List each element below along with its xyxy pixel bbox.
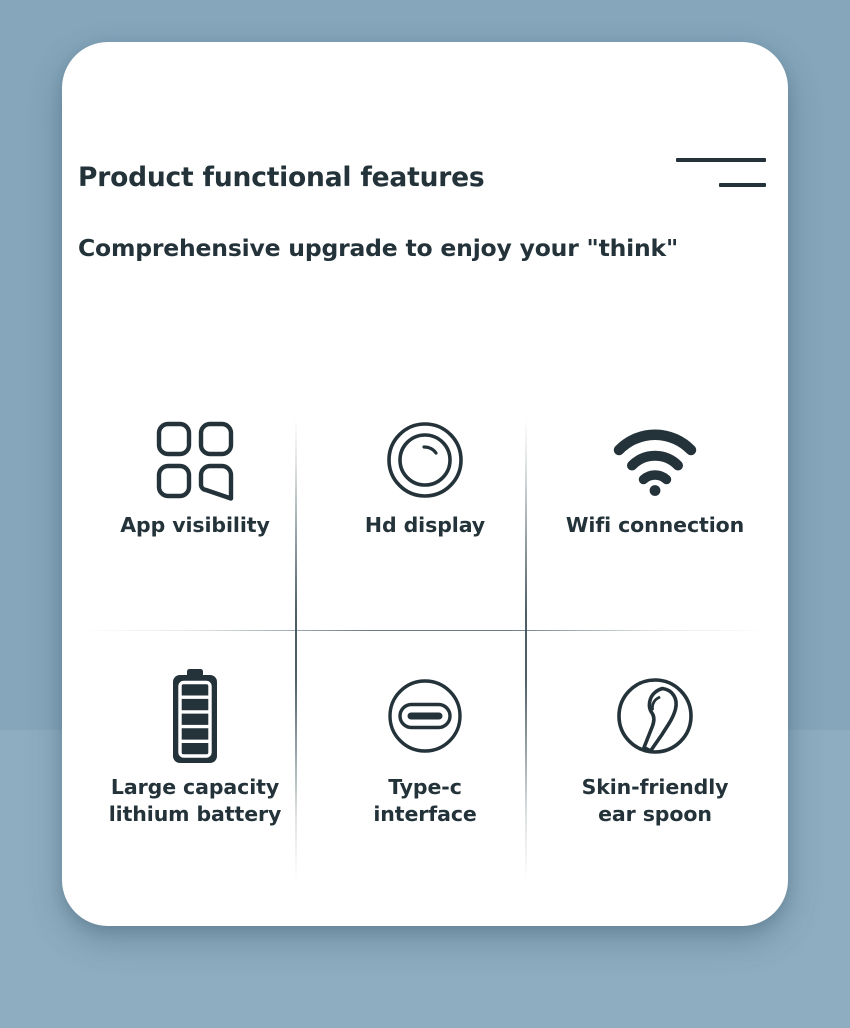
ear-spoon-icon	[611, 672, 699, 760]
header-rule-bottom-icon	[719, 183, 766, 187]
header-rule-decoration	[674, 158, 766, 200]
feature-label: Type-c interface	[373, 774, 476, 829]
battery-icon	[167, 672, 223, 760]
header-rule-top-icon	[676, 158, 766, 162]
app-grid-icon	[153, 416, 237, 504]
feature-label: Large capacity lithium battery	[109, 774, 282, 829]
card-header: Product functional features Comprehensiv…	[78, 162, 772, 262]
hd-display-icon	[383, 416, 467, 504]
title-row: Product functional features	[78, 162, 772, 208]
grid-divider-vertical-2	[525, 418, 527, 882]
feature-item-ear-spoon: Skin-friendly ear spoon	[540, 630, 770, 870]
usb-type-c-icon	[383, 672, 467, 760]
grid-divider-vertical-1	[295, 418, 297, 882]
wifi-icon	[610, 416, 700, 504]
feature-item-app-visibility: App visibility	[80, 390, 310, 630]
feature-item-type-c: Type-c interface	[310, 630, 540, 870]
feature-label: Wifi connection	[566, 512, 744, 539]
feature-label: Skin-friendly ear spoon	[582, 774, 729, 829]
feature-item-hd-display: Hd display	[310, 390, 540, 630]
feature-item-wifi-connection: Wifi connection	[540, 390, 770, 630]
page-subtitle: Comprehensive upgrade to enjoy your "thi…	[78, 234, 772, 262]
feature-item-battery: Large capacity lithium battery	[80, 630, 310, 870]
feature-label: Hd display	[365, 512, 485, 539]
feature-card: Product functional features Comprehensiv…	[62, 42, 788, 926]
grid-divider-horizontal	[80, 630, 770, 631]
page-title: Product functional features	[78, 162, 484, 193]
feature-label: App visibility	[120, 512, 270, 539]
